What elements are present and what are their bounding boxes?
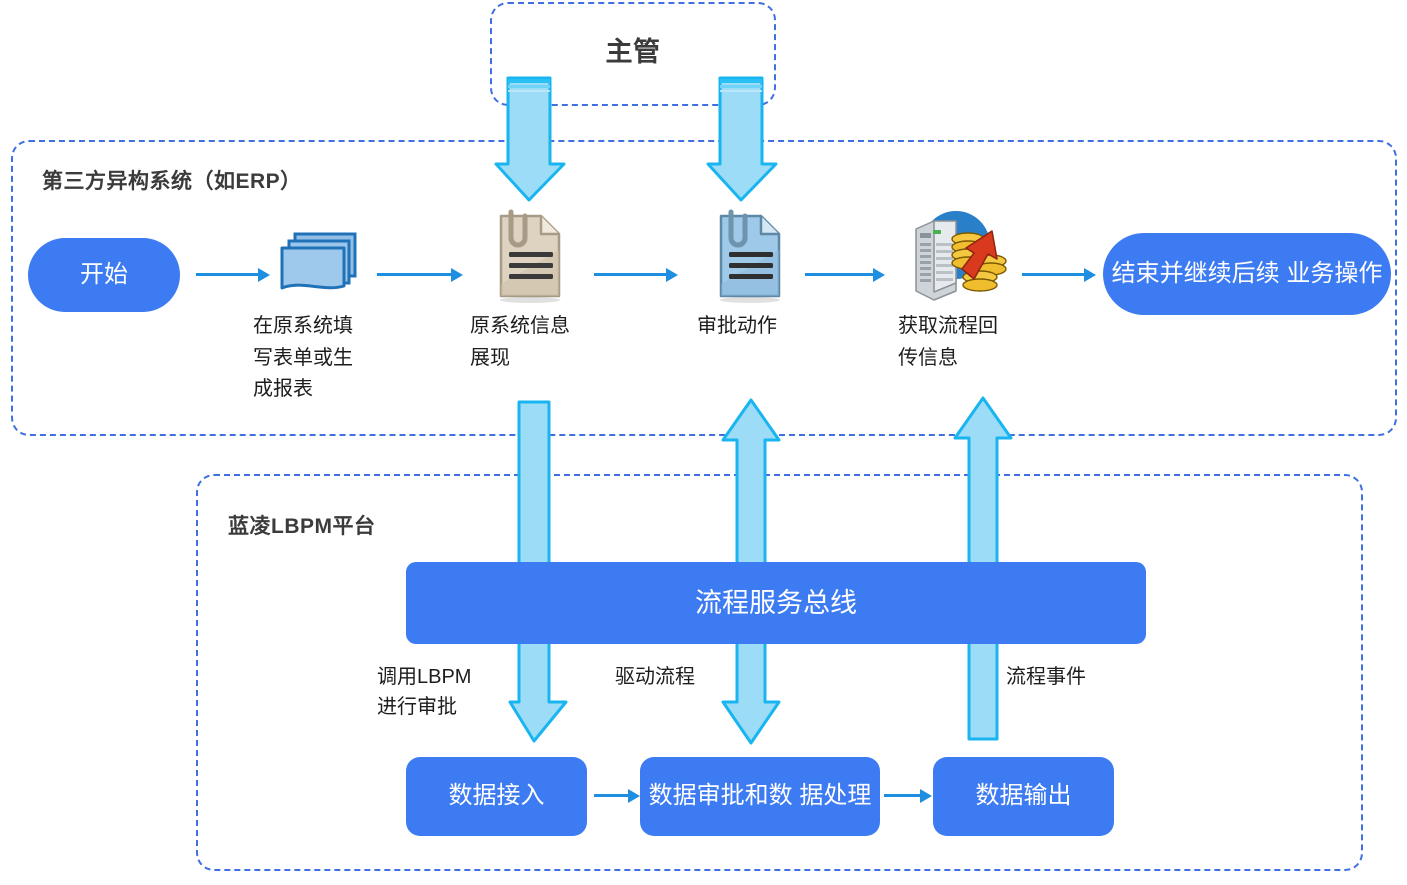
fat-arrow-manager-to-approve (706, 76, 778, 202)
arrow-head-icon (666, 268, 678, 282)
connector-line (594, 273, 667, 276)
node-end-continue-business[interactable]: 结束并继续后续 业务操作 (1103, 233, 1391, 315)
arrow-head-icon (920, 789, 932, 803)
connector-line (196, 273, 259, 276)
arrow-head-icon (451, 268, 463, 282)
connector-start-to-form (196, 268, 270, 282)
lane-lbpm-title: 蓝凌LBPM平台 (228, 510, 376, 540)
arrow-head-icon (628, 789, 640, 803)
caption-fill-form: 在原系统填 写表单或生 成报表 (253, 311, 413, 406)
connector-return-to-end (1022, 268, 1096, 282)
node-data-out[interactable]: 数据输出 (933, 757, 1114, 836)
document-stack-icon (277, 226, 373, 302)
diagram-canvas: 主管 第三方异构系统（如ERP） 蓝凌LBPM平台 (0, 0, 1407, 885)
lane-erp-title: 第三方异构系统（如ERP） (42, 165, 302, 195)
connector-line (884, 794, 921, 797)
edge-label-call-lbpm: 调用LBPM 进行审批 (377, 662, 471, 722)
server-coins-arrow-icon (898, 205, 1014, 305)
connector-line (805, 273, 874, 276)
lane-manager-title: 主管 (490, 30, 776, 69)
node-data-approval-and-processing[interactable]: 数据审批和数 据处理 (640, 757, 880, 836)
connector-dataprocess-to-dataout (884, 789, 932, 803)
connector-line (594, 794, 629, 797)
paperclip-document-tan-icon (487, 208, 571, 304)
caption-show-info: 原系统信息 展现 (470, 311, 630, 374)
connector-line (377, 273, 452, 276)
edge-label-drive-process: 驱动流程 (615, 662, 695, 692)
connector-line (1022, 273, 1085, 276)
connector-approve-to-return (805, 268, 885, 282)
arrow-head-icon (258, 268, 270, 282)
fat-arrow-manager-to-show-info (494, 76, 566, 202)
caption-return-info: 获取流程回 传信息 (898, 311, 1058, 374)
node-data-in[interactable]: 数据接入 (406, 757, 587, 836)
arrow-head-icon (1084, 268, 1096, 282)
connector-show-to-approve (594, 268, 678, 282)
caption-approve-action: 审批动作 (697, 311, 857, 343)
arrow-head-icon (873, 268, 885, 282)
node-start[interactable]: 开始 (28, 238, 180, 312)
connector-form-to-show (377, 268, 463, 282)
connector-datain-to-dataprocess (594, 789, 640, 803)
node-process-service-bus[interactable]: 流程服务总线 (406, 562, 1146, 644)
edge-label-process-event: 流程事件 (1006, 662, 1086, 692)
paperclip-document-blue-icon (707, 208, 791, 304)
